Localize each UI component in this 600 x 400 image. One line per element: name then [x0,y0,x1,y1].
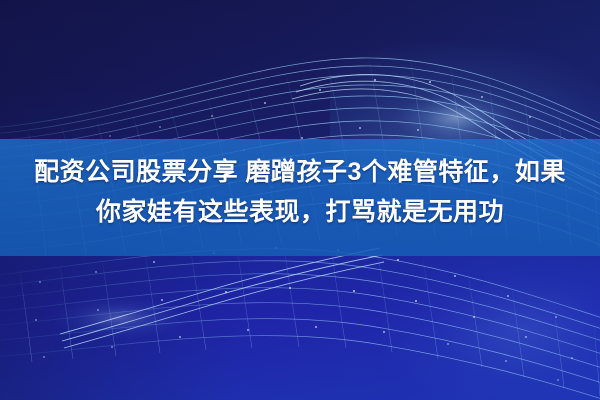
banner-title: 配资公司股票分享 磨蹭孩子3个难管特征，如果 你家娃有这些表现，打骂就是无用功 [0,152,600,232]
mesh-highlight-lower [50,296,190,340]
banner-image: 配资公司股票分享 磨蹭孩子3个难管特征，如果 你家娃有这些表现，打骂就是无用功 [0,0,600,400]
title-line-1: 配资公司股票分享 磨蹭孩子3个难管特征，如果 [0,152,600,192]
mesh-highlight-upper [395,92,515,144]
title-line-2: 你家娃有这些表现，打骂就是无用功 [0,192,600,232]
